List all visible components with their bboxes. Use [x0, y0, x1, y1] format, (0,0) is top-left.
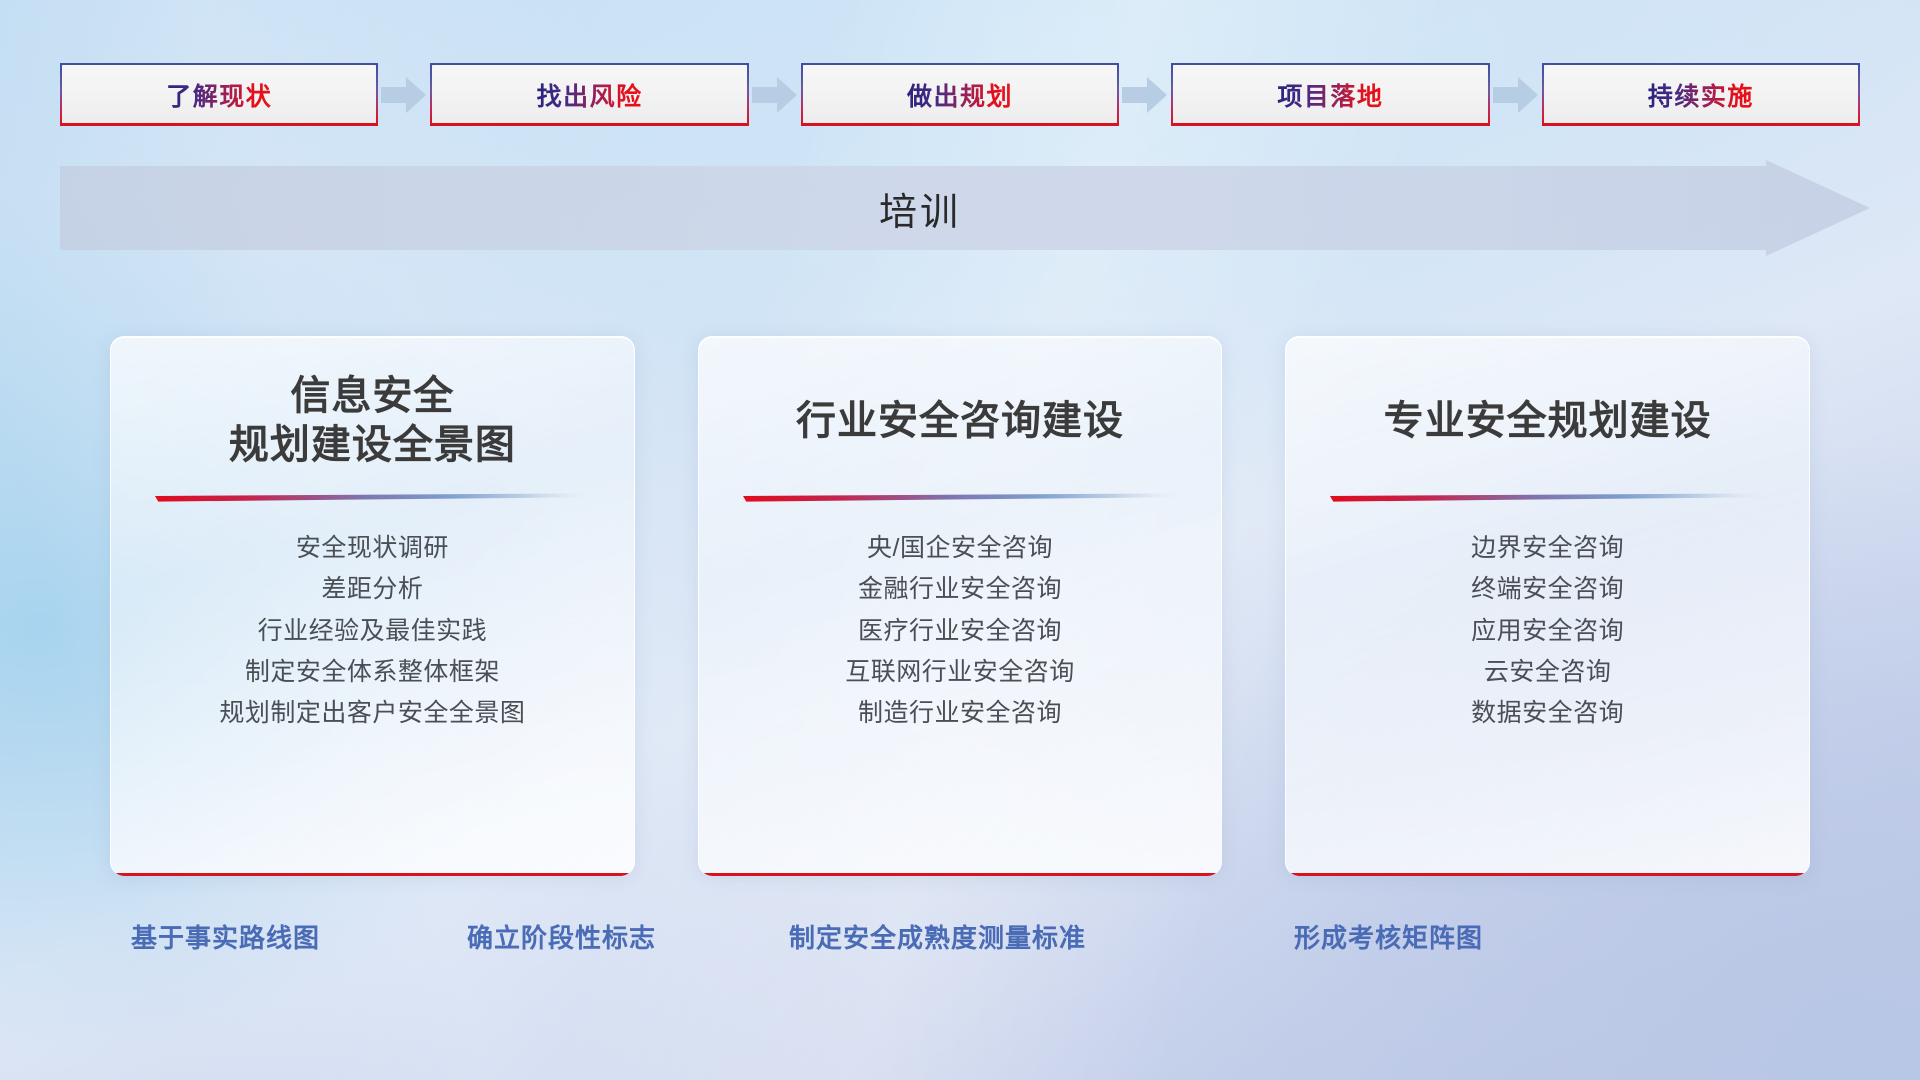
list-item: 云安全咨询 [1312, 652, 1783, 693]
step-box-4[interactable]: 项目落地 [1171, 63, 1489, 126]
list-item: 互联网行业安全咨询 [725, 652, 1196, 693]
step-label-4: 项目落地 [1277, 77, 1383, 113]
step-box-2[interactable]: 找出风险 [430, 63, 748, 126]
card-row: 信息安全 规划建设全景图 [110, 336, 1810, 876]
card-title-3: 专业安全规划建设 [1312, 371, 1783, 471]
caption-4: 形成考核矩阵图 [1294, 918, 1483, 955]
step-box-3[interactable]: 做出规划 [801, 63, 1119, 126]
caption-1: 基于事实路线图 [131, 918, 320, 955]
list-item: 行业经验及最佳实践 [137, 611, 608, 652]
training-banner: 培训 [60, 160, 1870, 256]
card-title-2: 行业安全咨询建设 [725, 371, 1196, 471]
list-item: 医疗行业安全咨询 [725, 611, 1196, 652]
step-label-5: 持续实施 [1648, 77, 1754, 113]
step-box-1[interactable]: 了解现状 [60, 63, 378, 126]
card-3[interactable]: 专业安全规划建设 [1285, 336, 1810, 876]
card-1[interactable]: 信息安全 规划建设全景图 [110, 336, 635, 876]
step-box-5[interactable]: 持续实施 [1542, 63, 1860, 126]
list-item: 金融行业安全咨询 [725, 569, 1196, 610]
list-item: 制造行业安全咨询 [725, 693, 1196, 734]
process-step-row: 了解现状 找出风险 做出规划 项目落地 持续实施 [60, 62, 1860, 127]
card-divider-3 [1330, 493, 1765, 502]
arrow-right-icon [378, 74, 430, 116]
step-label-2: 找出风险 [537, 77, 643, 113]
card-divider-1 [155, 493, 590, 502]
training-label: 培训 [60, 160, 1780, 256]
card-2[interactable]: 行业安全咨询建设 [698, 336, 1223, 876]
slide-stage: 了解现状 找出风险 做出规划 项目落地 持续实施 [0, 0, 1920, 1080]
caption-2: 确立阶段性标志 [467, 918, 656, 955]
caption-row: 基于事实路线图 确立阶段性标志 制定安全成熟度测量标准 形成考核矩阵图 [0, 918, 1920, 962]
list-item: 差距分析 [137, 569, 608, 610]
arrow-right-icon [1490, 74, 1542, 116]
step-label-1: 了解现状 [166, 77, 272, 113]
card-list-1: 安全现状调研 差距分析 行业经验及最佳实践 制定安全体系整体框架 规划制定出客户… [137, 528, 608, 734]
list-item: 央/国企安全咨询 [725, 528, 1196, 569]
list-item: 安全现状调研 [137, 528, 608, 569]
card-title-1: 信息安全 规划建设全景图 [137, 371, 608, 471]
arrow-right-icon [1119, 74, 1171, 116]
list-item: 边界安全咨询 [1312, 528, 1783, 569]
list-item: 制定安全体系整体框架 [137, 652, 608, 693]
list-item: 规划制定出客户安全全景图 [137, 693, 608, 734]
arrow-right-icon [749, 74, 801, 116]
card-list-2: 央/国企安全咨询 金融行业安全咨询 医疗行业安全咨询 互联网行业安全咨询 制造行… [725, 528, 1196, 734]
step-label-3: 做出规划 [907, 77, 1013, 113]
caption-3: 制定安全成熟度测量标准 [789, 918, 1086, 955]
list-item: 终端安全咨询 [1312, 569, 1783, 610]
list-item: 数据安全咨询 [1312, 693, 1783, 734]
card-divider-2 [743, 493, 1178, 502]
list-item: 应用安全咨询 [1312, 611, 1783, 652]
card-list-3: 边界安全咨询 终端安全咨询 应用安全咨询 云安全咨询 数据安全咨询 [1312, 528, 1783, 734]
